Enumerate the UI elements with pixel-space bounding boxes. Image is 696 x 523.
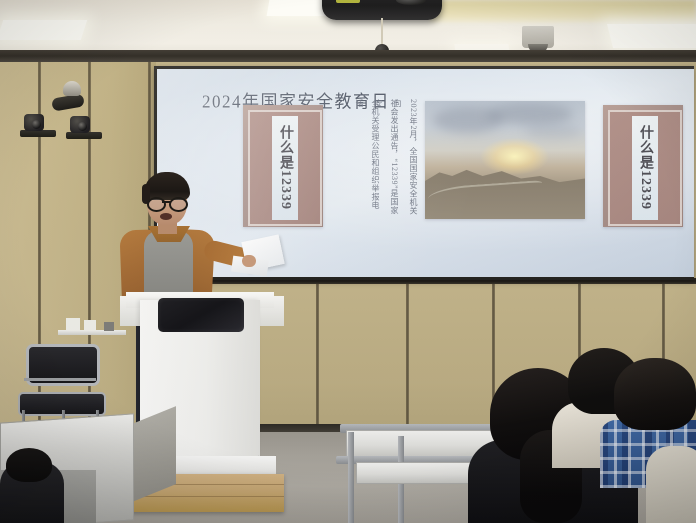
ceiling-projector — [322, 0, 442, 20]
slide-card-left-strip: 什么是12339 — [272, 116, 297, 219]
slide-card-right-strip: 什么是12339 — [632, 116, 657, 219]
student-far-left-hair — [6, 448, 52, 482]
slide-card-left-text: 什么是12339 — [275, 125, 295, 210]
wall-dome-light-icon — [63, 81, 81, 96]
slide-body-column-3: 全机关受理公民和组织举报电话 — [351, 99, 383, 217]
ceiling-warm-tint — [430, 0, 696, 22]
camera-bracket — [20, 130, 56, 137]
student-plaid-hair — [614, 358, 696, 430]
classroom-photo: 2024年国家安全教育日 什么是12339 2023年2月，全国国家安全机关向 … — [0, 0, 696, 523]
camera-lens-icon — [78, 122, 87, 131]
glasses-lens-right — [169, 197, 188, 212]
presenter-mouth — [160, 213, 172, 220]
glasses-icon — [147, 197, 188, 208]
slide-card-right-inner: 什么是12339 — [608, 110, 682, 226]
desk-leg — [348, 432, 354, 523]
presenter-hand — [242, 255, 256, 267]
ceiling-light-panel — [0, 20, 87, 40]
chair-rail — [24, 378, 96, 381]
ceiling-rail — [0, 50, 696, 62]
list-item — [646, 436, 696, 523]
list-item — [0, 448, 64, 523]
shelf-box-item — [66, 318, 80, 331]
camera-lens-icon — [32, 120, 41, 129]
camera-bracket — [66, 132, 102, 139]
slide-card-right: 什么是12339 — [603, 105, 683, 227]
ceiling-speaker — [522, 26, 554, 48]
shelf-box-item — [84, 320, 96, 331]
presenter-hair — [144, 172, 190, 200]
wall-seam — [316, 282, 319, 430]
cloud-shape — [525, 123, 581, 139]
wall-seam — [406, 282, 409, 430]
glasses-lens-left — [147, 197, 166, 212]
shelf-small-item — [104, 322, 114, 331]
slide-card-right-text: 什么是12339 — [635, 125, 655, 210]
cloud-shape — [487, 103, 573, 125]
slide-photo-great-wall — [425, 101, 585, 219]
podium-display — [158, 298, 244, 332]
student-right-edge-top — [646, 446, 696, 523]
ceiling-light-panel — [607, 24, 696, 48]
